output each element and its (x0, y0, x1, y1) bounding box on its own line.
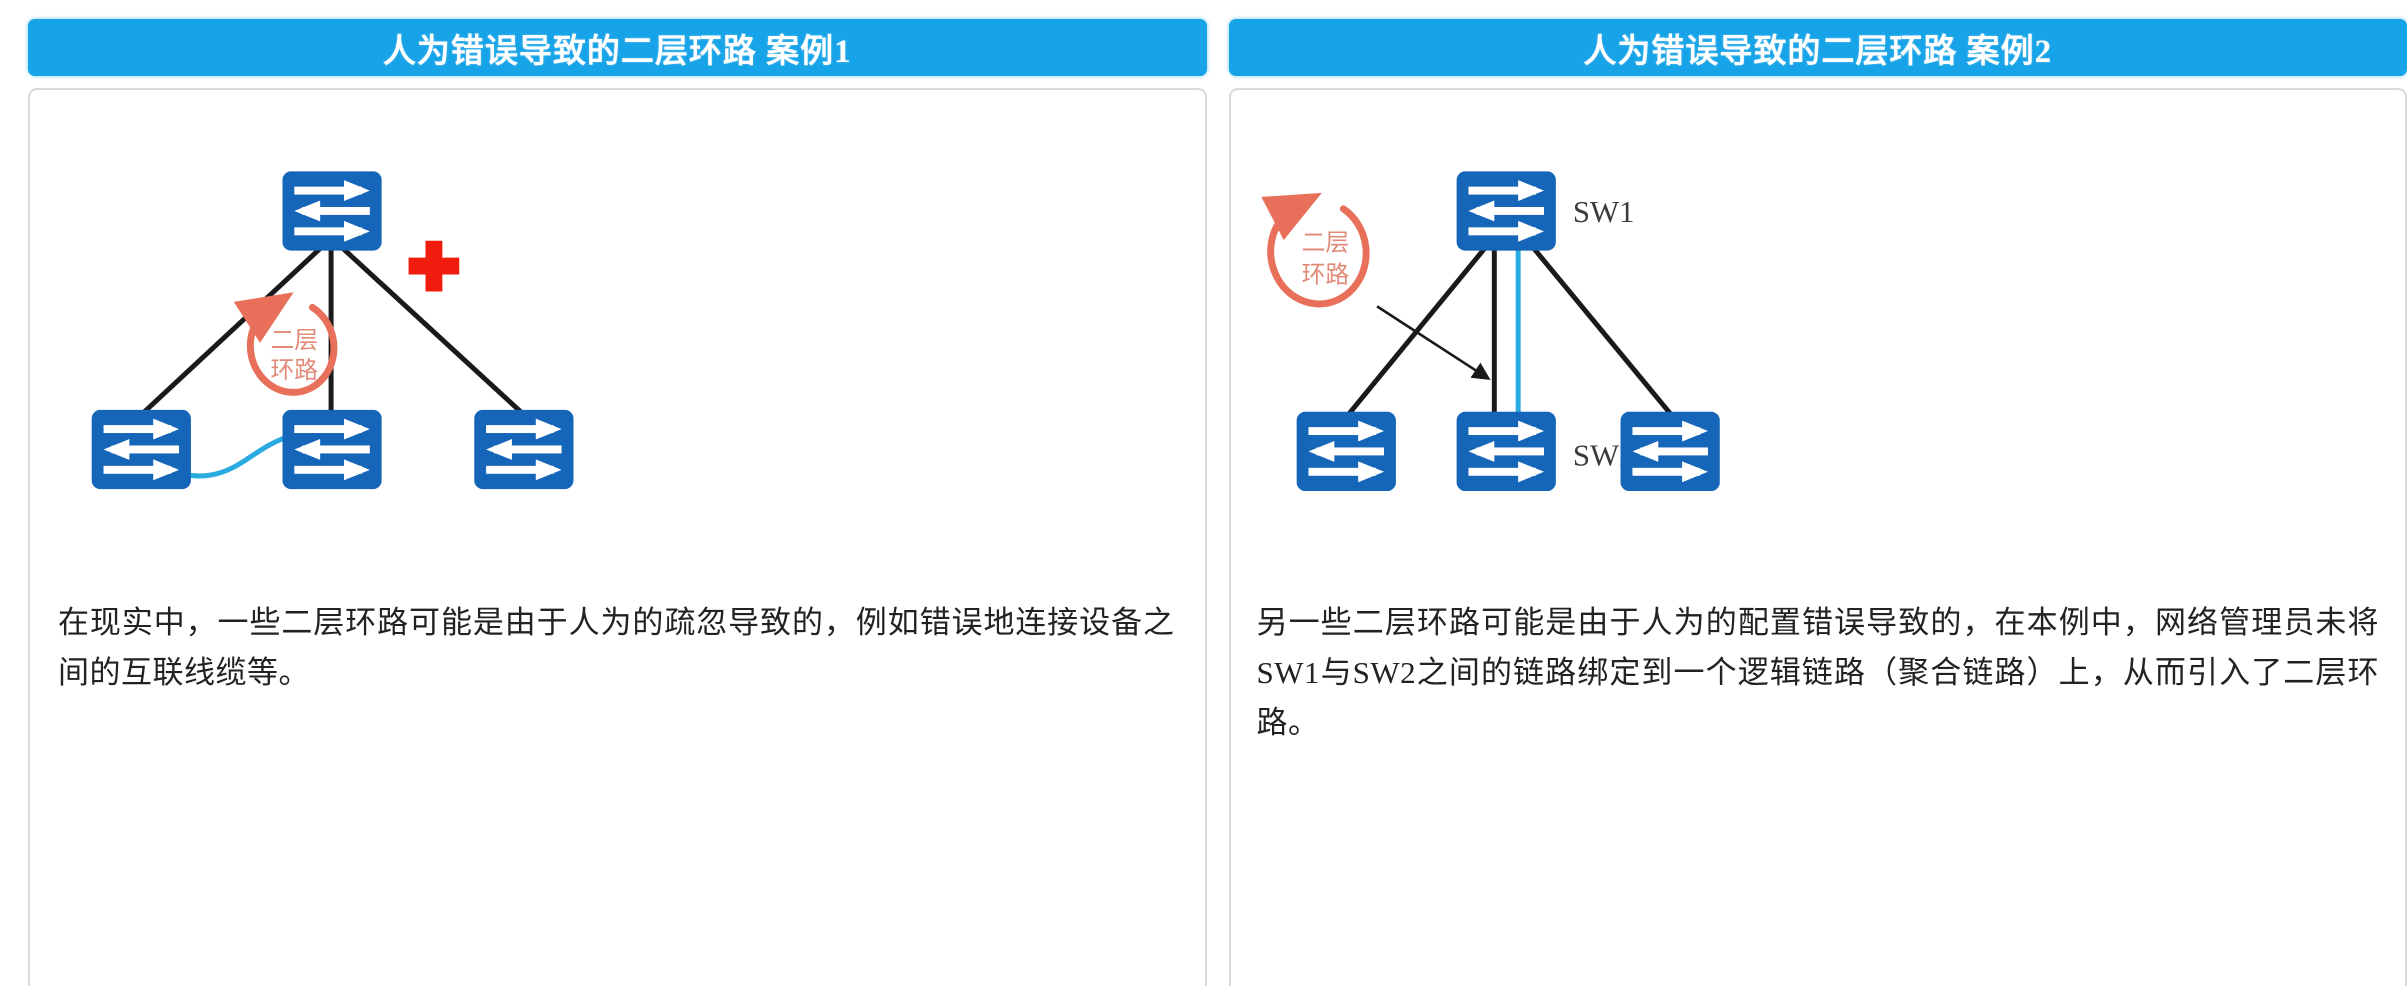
access-switch-mid (282, 410, 381, 489)
panel-case-1-caption: 在现实中，一些二层环路可能是由于人为的疏忽导致的，例如错误地连接设备之间的互联线… (30, 598, 1205, 698)
core-switch (282, 171, 381, 250)
loop-badge: 二层 环路 (245, 299, 340, 398)
access-switch-left (1296, 412, 1395, 491)
comparison-figure: 人为错误导致的二层环路 案例1 (0, 0, 2407, 986)
panel-case-2-caption: 另一些二层环路可能是由于人为的配置错误导致的，在本例中，网络管理员未将SW1与S… (1231, 598, 2406, 749)
switch-sw2: SW2 (1456, 412, 1634, 491)
loop-badge: 二层 环路 (1265, 199, 1370, 309)
switch-sw1: SW1 (1456, 171, 1634, 250)
loop-badge-line-1: 二层 (270, 328, 318, 354)
access-switch-right (1620, 412, 1719, 491)
panel-case-1-title: 人为错误导致的二层环路 案例1 (383, 24, 852, 72)
access-switch-left (92, 410, 191, 489)
loop-badge-line-2: 环路 (1301, 262, 1349, 289)
panel-case-2-title: 人为错误导致的二层环路 案例2 (1583, 24, 2052, 72)
panel-case-1-body: 二层 环路 (28, 88, 1207, 986)
panel-case-1-header: 人为错误导致的二层环路 案例1 (28, 19, 1207, 76)
switch-sw1-label: SW1 (1572, 195, 1634, 229)
link-sw1-to-right (1534, 249, 1671, 415)
loop-badge-line-1: 二层 (1301, 231, 1349, 257)
panel-case-2-body: 二层 环路 SW1 SW2 (1229, 88, 2407, 986)
panel-case-2: 人为错误导致的二层环路 案例2 (1229, 0, 2407, 986)
network-diagram-case-2: 二层 环路 SW1 SW2 (1231, 90, 2406, 635)
network-diagram-case-1: 二层 环路 (30, 90, 1205, 635)
access-switch-right (474, 410, 573, 489)
panel-case-2-header: 人为错误导致的二层环路 案例2 (1229, 19, 2407, 76)
red-cross-marker (409, 241, 460, 292)
loop-badge-line-2: 环路 (270, 357, 318, 384)
panel-case-1: 人为错误导致的二层环路 案例1 (28, 0, 1207, 986)
loop-pointer-arrow (1377, 306, 1487, 378)
